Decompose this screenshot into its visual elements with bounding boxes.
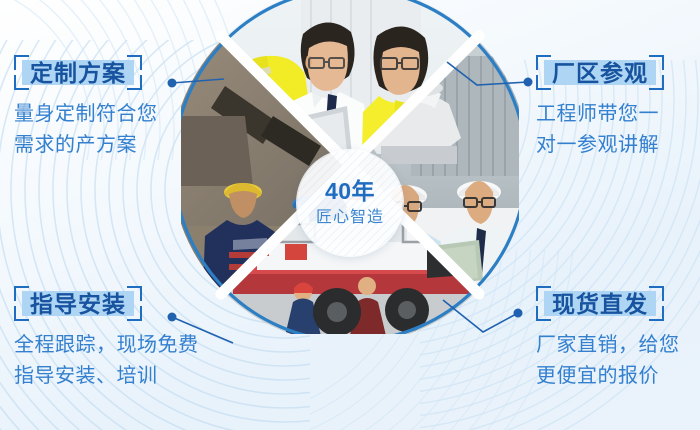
- badge-headline: 40年: [325, 180, 375, 203]
- feature-description-factory-visit: 工程师带您一 对一参观讲解: [536, 99, 664, 161]
- feature-description-line: 对一参观讲解: [536, 130, 664, 161]
- feature-tag-label: 定制方案: [20, 60, 136, 86]
- feature-description-line: 量身定制符合您: [14, 99, 158, 130]
- badge-subline: 匠心智造: [316, 210, 384, 226]
- feature-tag-stock-direct-shipping: 现货直发: [536, 286, 664, 321]
- promo-banner: 40年 匠心智造 定制方案 量身定制符合您 需求的产方案: [0, 0, 700, 430]
- feature-description-line: 更便宜的报价: [536, 361, 680, 392]
- feature-tag-label: 现货直发: [542, 291, 658, 317]
- feature-description-custom-solution: 量身定制符合您 需求的产方案: [14, 99, 158, 161]
- feature-description-line: 工程师带您一: [536, 99, 664, 130]
- feature-block-stock-direct-shipping[interactable]: 现货直发 厂家直销，给您 更便宜的报价: [536, 286, 680, 392]
- feature-block-installation-guidance[interactable]: 指导安装 全程跟踪，现场免费 指导安装、培训: [14, 286, 199, 392]
- center-badge: 40年 匠心智造: [297, 150, 403, 256]
- feature-tag-factory-visit: 厂区参观: [536, 55, 664, 90]
- feature-description-installation-guidance: 全程跟踪，现场免费 指导安装、培训: [14, 330, 199, 392]
- connector-dot-top-right: [524, 78, 533, 87]
- feature-description-line: 全程跟踪，现场免费: [14, 330, 199, 361]
- feature-description-line: 厂家直销，给您: [536, 330, 680, 361]
- feature-tag-installation-guidance: 指导安装: [14, 286, 142, 321]
- feature-block-custom-solution[interactable]: 定制方案 量身定制符合您 需求的产方案: [14, 55, 158, 161]
- feature-description-line: 需求的产方案: [14, 130, 158, 161]
- feature-tag-label: 指导安装: [20, 291, 136, 317]
- feature-block-factory-visit[interactable]: 厂区参观 工程师带您一 对一参观讲解: [536, 55, 664, 161]
- connector-dot-top-left: [168, 79, 177, 88]
- feature-description-line: 指导安装、培训: [14, 361, 199, 392]
- feature-description-stock-direct-shipping: 厂家直销，给您 更便宜的报价: [536, 330, 680, 392]
- feature-tag-custom-solution: 定制方案: [14, 55, 142, 90]
- feature-tag-label: 厂区参观: [542, 60, 658, 86]
